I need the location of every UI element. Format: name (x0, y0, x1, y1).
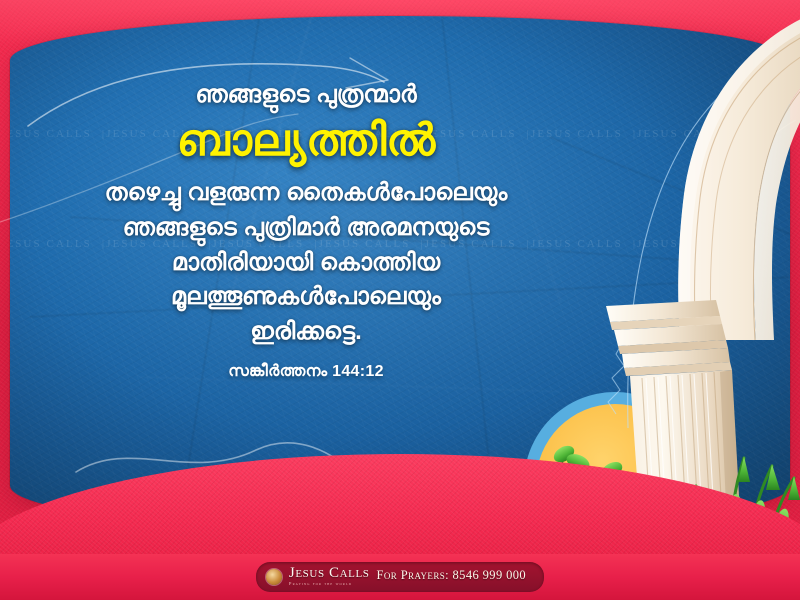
verse-line-5: മാതിരിയായി കൊത്തിയ (0, 246, 612, 281)
verse-reference: സങ്കീർത്തനം 144:12 (0, 363, 612, 381)
prayers-phone-label: For Prayers: 8546 999 000 (377, 568, 527, 585)
verse-text-block: ഞങ്ങളുടെ പുത്രന്മാർ ബാല്യത്തിൽ തഴെച്ചു വ… (0, 78, 612, 381)
footer-bar: Jesus Calls Praying for the world For Pr… (0, 554, 800, 600)
verse-line-7: ഇരിക്കട്ടെ. (0, 315, 612, 350)
verse-line-4: ഞങ്ങളുടെ പുത്രിമാർ അരമനയുടെ (0, 211, 612, 246)
jesus-calls-emblem-icon (266, 569, 282, 585)
jesus-calls-brand: Jesus Calls Praying for the world (289, 566, 370, 587)
poster-canvas: JESUS CALLS|JESUS CALLS|JESUS CALLS|JESU… (0, 0, 800, 600)
verse-line-6: മൂലത്തൂണുകൾപോലെയും (0, 280, 612, 315)
brand-tagline: Praying for the world (289, 582, 370, 587)
verse-line-2-highlight: ബാല്യത്തിൽ (0, 115, 612, 167)
verse-line-3: തഴെച്ചു വളരുന്ന തൈകൾപോലെയും (0, 176, 612, 211)
verse-line-1: ഞങ്ങളുടെ പുത്രന്മാർ (0, 78, 612, 113)
brand-name: Jesus Calls (289, 566, 370, 581)
jesus-calls-badge[interactable]: Jesus Calls Praying for the world For Pr… (256, 562, 544, 592)
